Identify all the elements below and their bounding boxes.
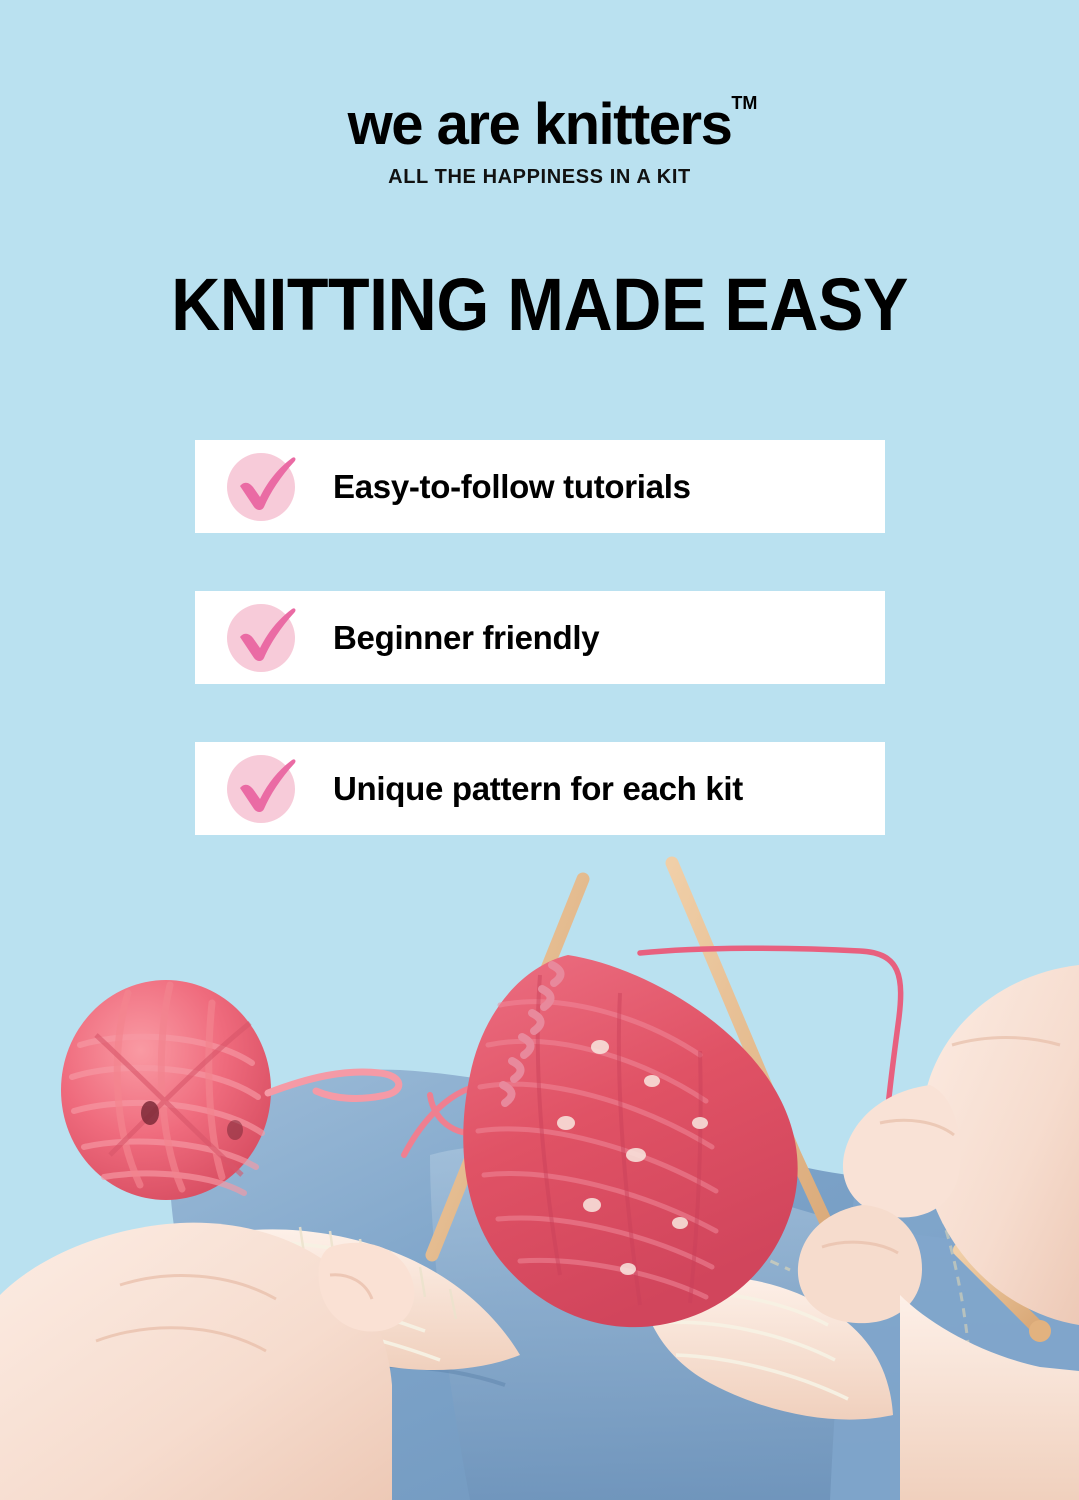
- check-mark-glyph: [223, 747, 303, 827]
- feature-card[interactable]: Beginner friendly: [195, 591, 885, 684]
- page-title: KNITTING MADE EASY: [43, 268, 1036, 342]
- brand-name: we are knitters: [348, 92, 732, 157]
- feature-label: Easy-to-follow tutorials: [333, 468, 691, 506]
- poster-canvas: we are knitters TM ALL THE HAPPINESS IN …: [0, 0, 1079, 1500]
- check-icon: [223, 600, 299, 676]
- feature-label: Unique pattern for each kit: [333, 770, 743, 808]
- check-icon: [223, 449, 299, 525]
- brand-block: we are knitters TM ALL THE HAPPINESS IN …: [0, 96, 1079, 189]
- check-mark-glyph: [223, 445, 303, 525]
- feature-label: Beginner friendly: [333, 619, 599, 657]
- left-hand: [0, 1223, 414, 1500]
- trademark-mark: TM: [731, 94, 757, 112]
- brand-tagline: ALL THE HAPPINESS IN A KIT: [0, 166, 1079, 189]
- feature-card[interactable]: Unique pattern for each kit: [195, 742, 885, 835]
- hero-photo: [0, 855, 1079, 1500]
- feature-card[interactable]: Easy-to-follow tutorials: [195, 440, 885, 533]
- brand-logo: we are knitters TM: [348, 96, 732, 154]
- check-icon: [223, 751, 299, 827]
- feature-list: Easy-to-follow tutorials Beginner friend…: [195, 440, 885, 893]
- check-mark-glyph: [223, 596, 303, 676]
